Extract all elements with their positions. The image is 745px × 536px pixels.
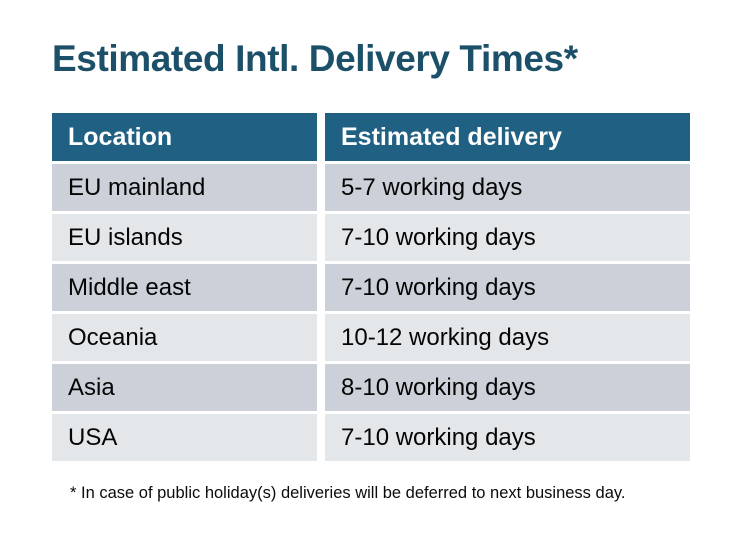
column-header-location: Location (52, 113, 317, 161)
table-row: EU mainland 5-7 working days (52, 164, 690, 211)
footnote-text: * In case of public holiday(s) deliverie… (70, 482, 625, 504)
cell-location: USA (52, 414, 317, 461)
table-row: Oceania 10-12 working days (52, 314, 690, 361)
table-header-row: Location Estimated delivery (52, 113, 690, 161)
cell-delivery: 10-12 working days (325, 314, 690, 361)
cell-location: EU islands (52, 214, 317, 261)
cell-location: Middle east (52, 264, 317, 311)
page-title: Estimated Intl. Delivery Times* (52, 36, 578, 82)
cell-location: Oceania (52, 314, 317, 361)
table-row: Middle east 7-10 working days (52, 264, 690, 311)
cell-delivery: 5-7 working days (325, 164, 690, 211)
cell-location: Asia (52, 364, 317, 411)
column-divider (317, 113, 325, 161)
column-divider (317, 164, 325, 211)
cell-delivery: 7-10 working days (325, 214, 690, 261)
column-divider (317, 214, 325, 261)
column-divider (317, 314, 325, 361)
cell-delivery: 7-10 working days (325, 414, 690, 461)
cell-delivery: 7-10 working days (325, 264, 690, 311)
cell-location: EU mainland (52, 164, 317, 211)
cell-delivery: 8-10 working days (325, 364, 690, 411)
table-row: Asia 8-10 working days (52, 364, 690, 411)
delivery-times-table: Location Estimated delivery EU mainland … (52, 113, 690, 461)
column-divider (317, 264, 325, 311)
table-row: EU islands 7-10 working days (52, 214, 690, 261)
column-divider (317, 364, 325, 411)
column-divider (317, 414, 325, 461)
table-row: USA 7-10 working days (52, 414, 690, 461)
delivery-times-page: Estimated Intl. Delivery Times* Location… (0, 0, 745, 536)
column-header-estimated-delivery: Estimated delivery (325, 113, 690, 161)
